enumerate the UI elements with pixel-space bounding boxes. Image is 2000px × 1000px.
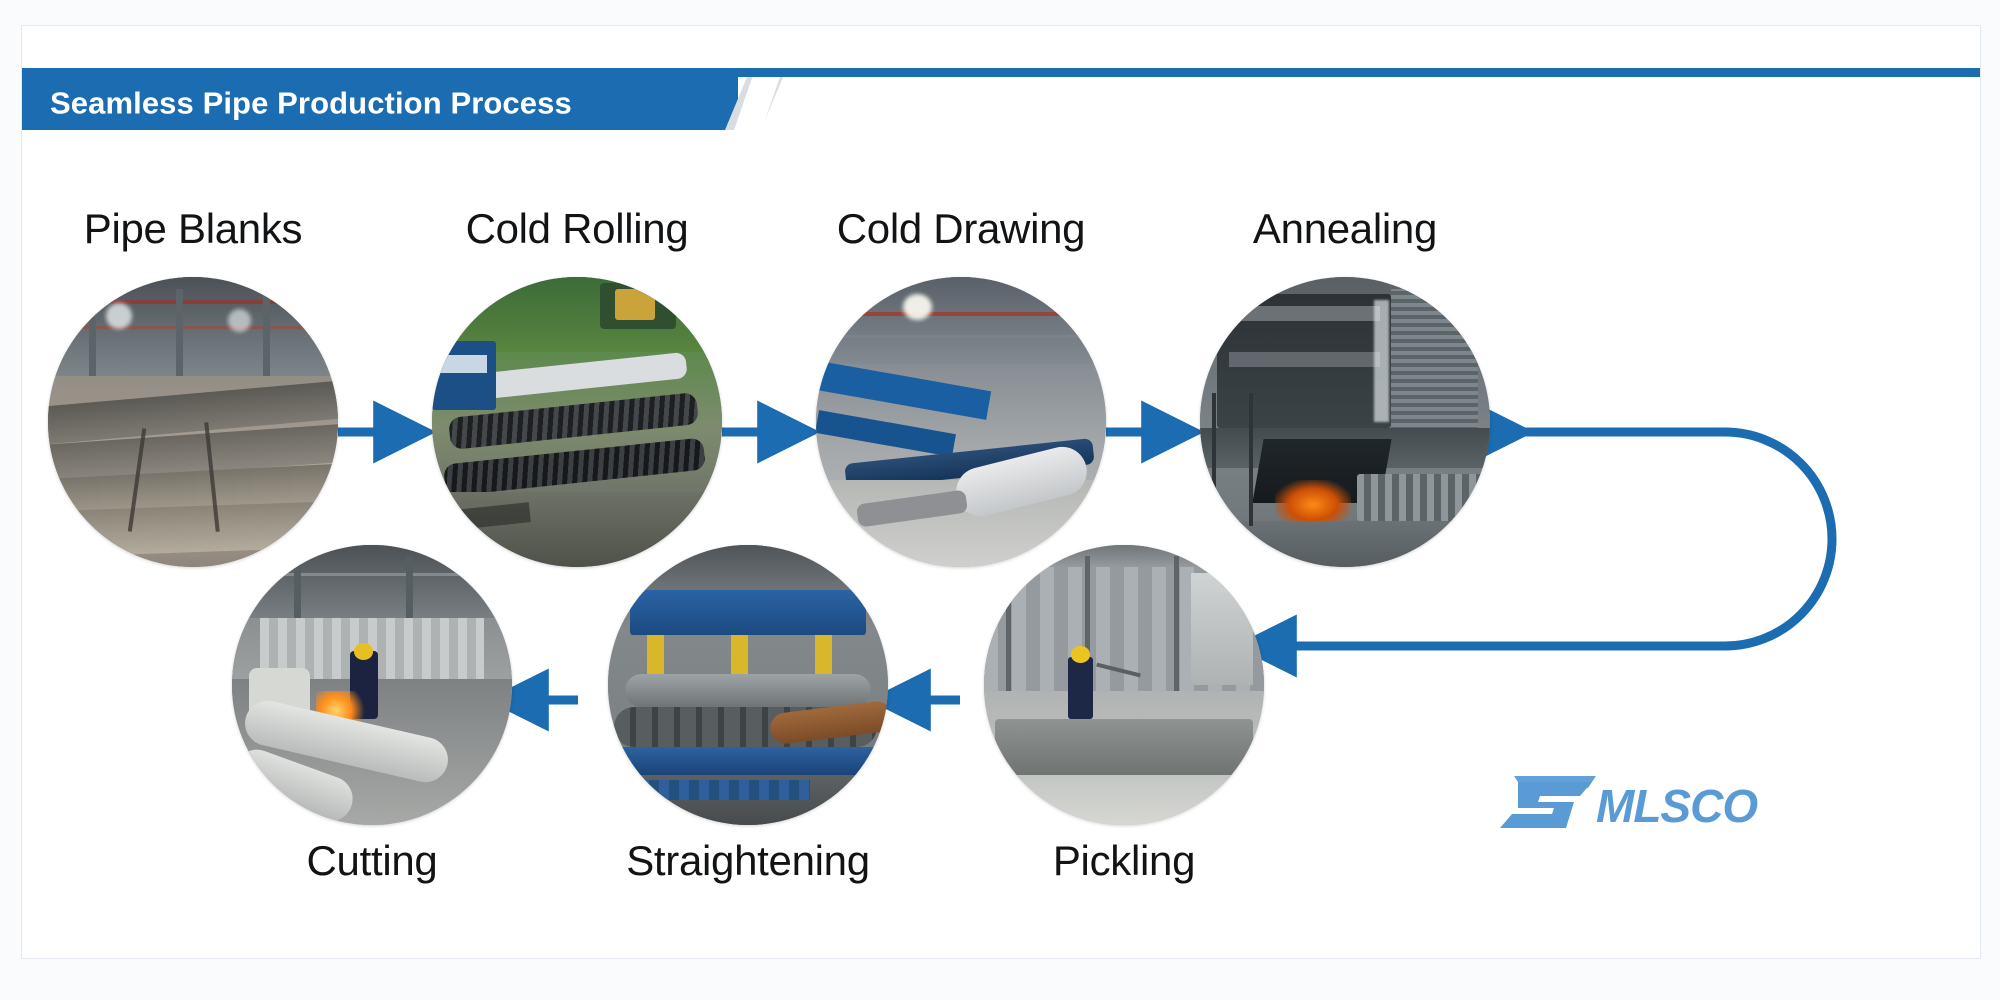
header-top-rule [22,68,1980,77]
photo-annealing-furnace [1200,277,1490,567]
process-step-pickling[interactable]: Pickling [984,545,1264,885]
photo-cold-rolling-mill [432,277,722,567]
process-step-cold-drawing[interactable]: Cold Drawing [816,205,1106,515]
process-step-label: Annealing [1200,205,1490,253]
photo-straightening-machine [608,545,888,825]
process-step-image-cutting [232,545,512,825]
process-step-annealing[interactable]: Annealing [1200,205,1490,515]
process-step-straightening[interactable]: Straightening [608,545,888,885]
process-step-image-pickling [984,545,1264,825]
photo-cold-drawing-bench [816,277,1106,567]
process-step-image-cold-drawing [816,277,1106,567]
process-step-image-straightening [608,545,888,825]
process-step-label: Pickling [984,837,1264,885]
infographic-stage: Seamless Pipe Production Process [0,0,2000,1000]
process-step-image-pipe-blanks [48,277,338,567]
process-step-pipe-blanks[interactable]: Pipe Blanks [48,205,338,515]
logo-wordmark: MLSCO [1596,780,1758,832]
photo-warehouse-pipe-stacks [48,277,338,567]
process-step-label: Pipe Blanks [48,205,338,253]
process-step-cutting[interactable]: Cutting [232,545,512,885]
process-step-label: Cold Drawing [816,205,1106,253]
photo-pickling-tanks [984,545,1264,825]
header-banner: Seamless Pipe Production Process [22,77,738,130]
process-step-image-cold-rolling [432,277,722,567]
brand-logo[interactable]: MLSCO SMLSCO [1500,760,1830,840]
process-step-label: Cutting [232,837,512,885]
page-title: Seamless Pipe Production Process [50,85,572,121]
smlsco-logo-icon: MLSCO [1500,760,1830,840]
photo-pipe-cutting [232,545,512,825]
process-step-cold-rolling[interactable]: Cold Rolling [432,205,722,515]
process-step-label: Cold Rolling [432,205,722,253]
process-step-image-annealing [1200,277,1490,567]
process-step-label: Straightening [608,837,888,885]
